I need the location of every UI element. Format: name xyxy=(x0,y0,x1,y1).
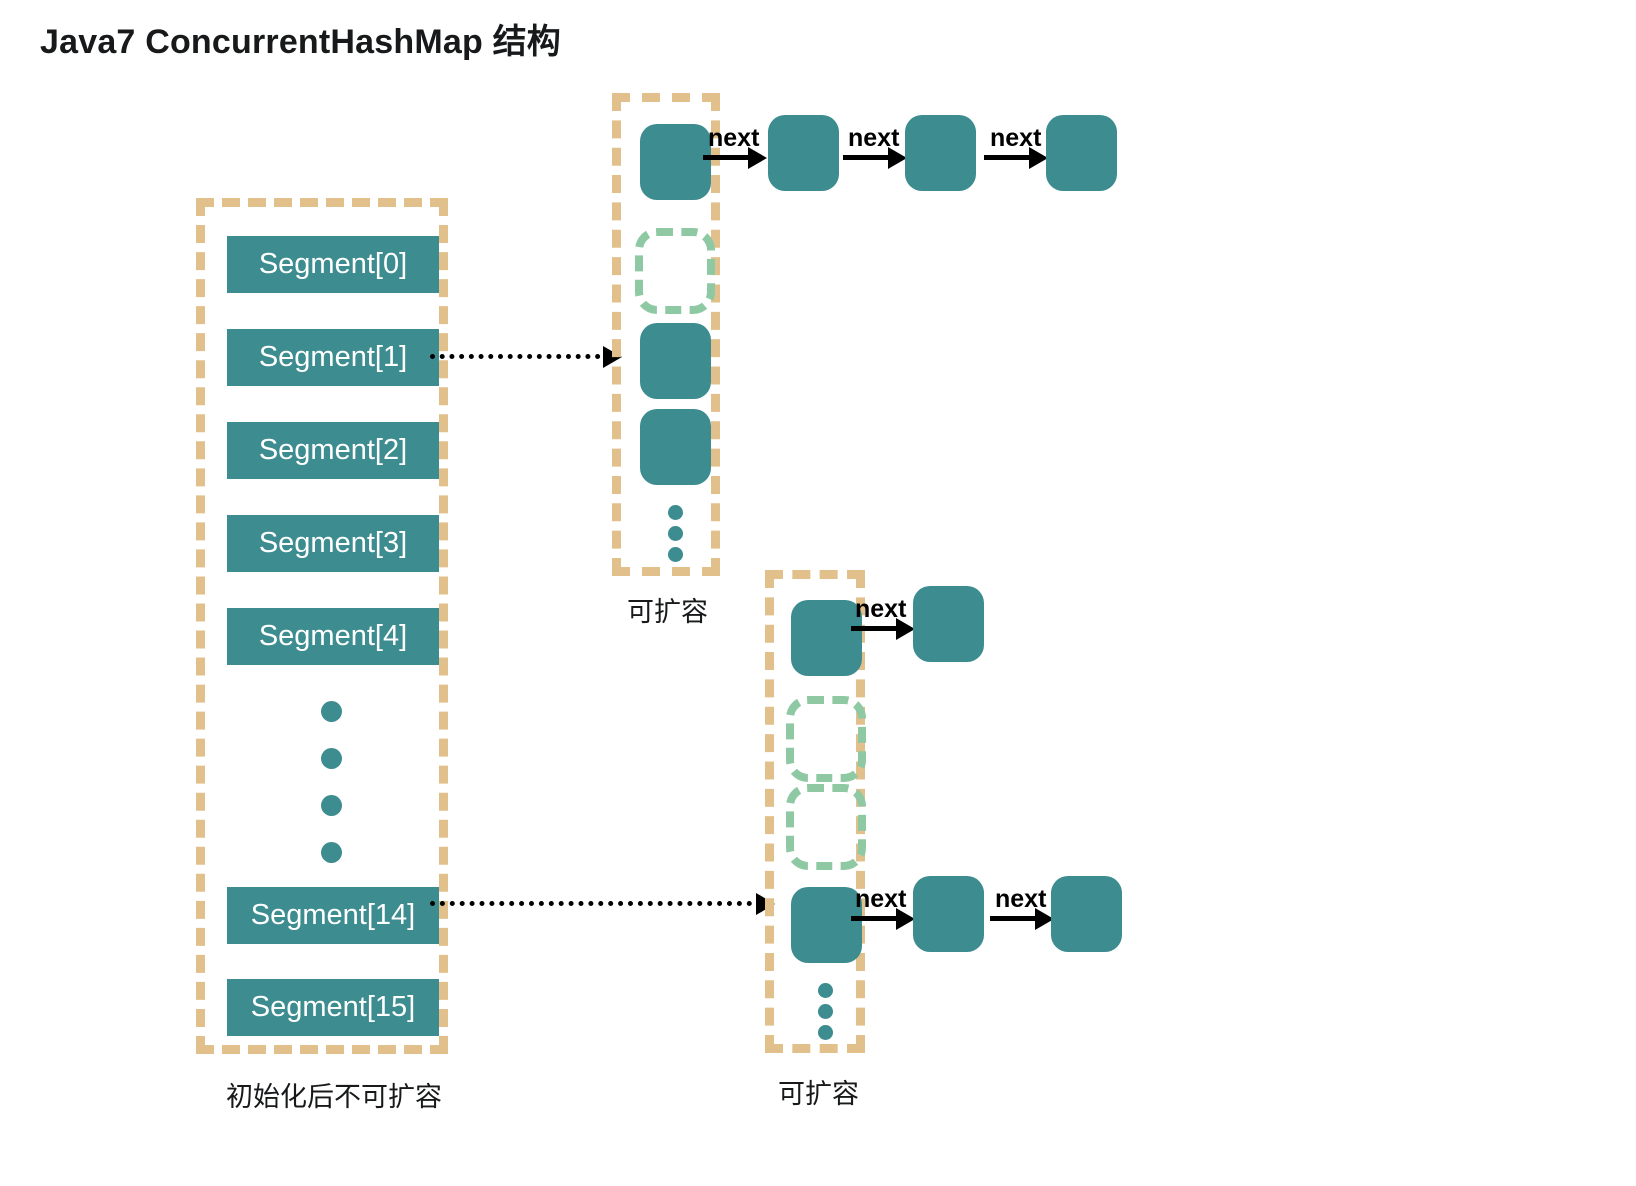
segment-cell-3[interactable]: Segment[3] xyxy=(227,515,439,572)
diagram-canvas: Java7 ConcurrentHashMap 结构 Segment[0] Se… xyxy=(0,0,1636,1186)
bucket1-ellipsis-dot-3 xyxy=(668,547,683,562)
segment-cell-1[interactable]: Segment[1] xyxy=(227,329,439,386)
pointer-segment1-line xyxy=(430,354,610,359)
bucket2-slot3-node[interactable] xyxy=(791,887,862,963)
segment-cell-14[interactable]: Segment[14] xyxy=(227,887,439,944)
bucket1-ellipsis-dot-1 xyxy=(668,505,683,520)
chain-node-r3-3[interactable] xyxy=(1051,876,1122,952)
bucket2-ellipsis-dot-3 xyxy=(818,1025,833,1040)
chain-arrow-r1-3 xyxy=(984,155,1034,160)
bucket2-slot0-node[interactable] xyxy=(791,600,862,676)
bucket1-slot2-node[interactable] xyxy=(640,323,711,399)
bucket1-ellipsis-dot-2 xyxy=(668,526,683,541)
chain-arrow-r1-2 xyxy=(843,155,893,160)
page-title: Java7 ConcurrentHashMap 结构 xyxy=(40,14,561,63)
bucket-array-2-caption: 可扩容 xyxy=(778,1072,859,1111)
bucket1-slot3-node[interactable] xyxy=(640,409,711,485)
bucket2-slot1-empty-node[interactable] xyxy=(786,696,866,782)
bucket1-slot0-node[interactable] xyxy=(640,124,711,200)
chain-node-r1-3[interactable] xyxy=(905,115,976,191)
chain-arrow-r3-1 xyxy=(851,916,901,921)
segment-cell-4[interactable]: Segment[4] xyxy=(227,608,439,665)
segment-array-frame: Segment[0] Segment[1] Segment[2] Segment… xyxy=(196,198,448,1054)
chain-arrowhead-r1-1 xyxy=(748,147,767,169)
segment-ellipsis-dot-3 xyxy=(321,795,342,816)
segment-cell-0[interactable]: Segment[0] xyxy=(227,236,439,293)
chain-node-r3-2[interactable] xyxy=(913,876,984,952)
bucket-array-1-frame xyxy=(612,93,720,576)
segment-cell-15[interactable]: Segment[15] xyxy=(227,979,439,1036)
bucket-array-1-caption: 可扩容 xyxy=(627,590,708,629)
chain-arrow-r2-1 xyxy=(851,626,901,631)
chain-arrow-r3-2 xyxy=(990,916,1040,921)
segment-ellipsis-dot-2 xyxy=(321,748,342,769)
chain-node-r1-4[interactable] xyxy=(1046,115,1117,191)
pointer-segment14-line xyxy=(430,901,762,906)
chain-node-r1-2[interactable] xyxy=(768,115,839,191)
bucket-array-2-frame xyxy=(765,570,865,1053)
bucket2-ellipsis-dot-2 xyxy=(818,1004,833,1019)
segment-cell-2[interactable]: Segment[2] xyxy=(227,422,439,479)
segment-ellipsis-dot-4 xyxy=(321,842,342,863)
segment-array-caption: 初始化后不可扩容 xyxy=(226,1075,442,1114)
segment-ellipsis-dot-1 xyxy=(321,701,342,722)
chain-node-r2-2[interactable] xyxy=(913,586,984,662)
bucket2-ellipsis-dot-1 xyxy=(818,983,833,998)
bucket2-slot2-empty-node[interactable] xyxy=(786,784,866,870)
chain-arrow-r1-1 xyxy=(703,155,753,160)
bucket1-slot1-empty-node[interactable] xyxy=(635,228,715,314)
